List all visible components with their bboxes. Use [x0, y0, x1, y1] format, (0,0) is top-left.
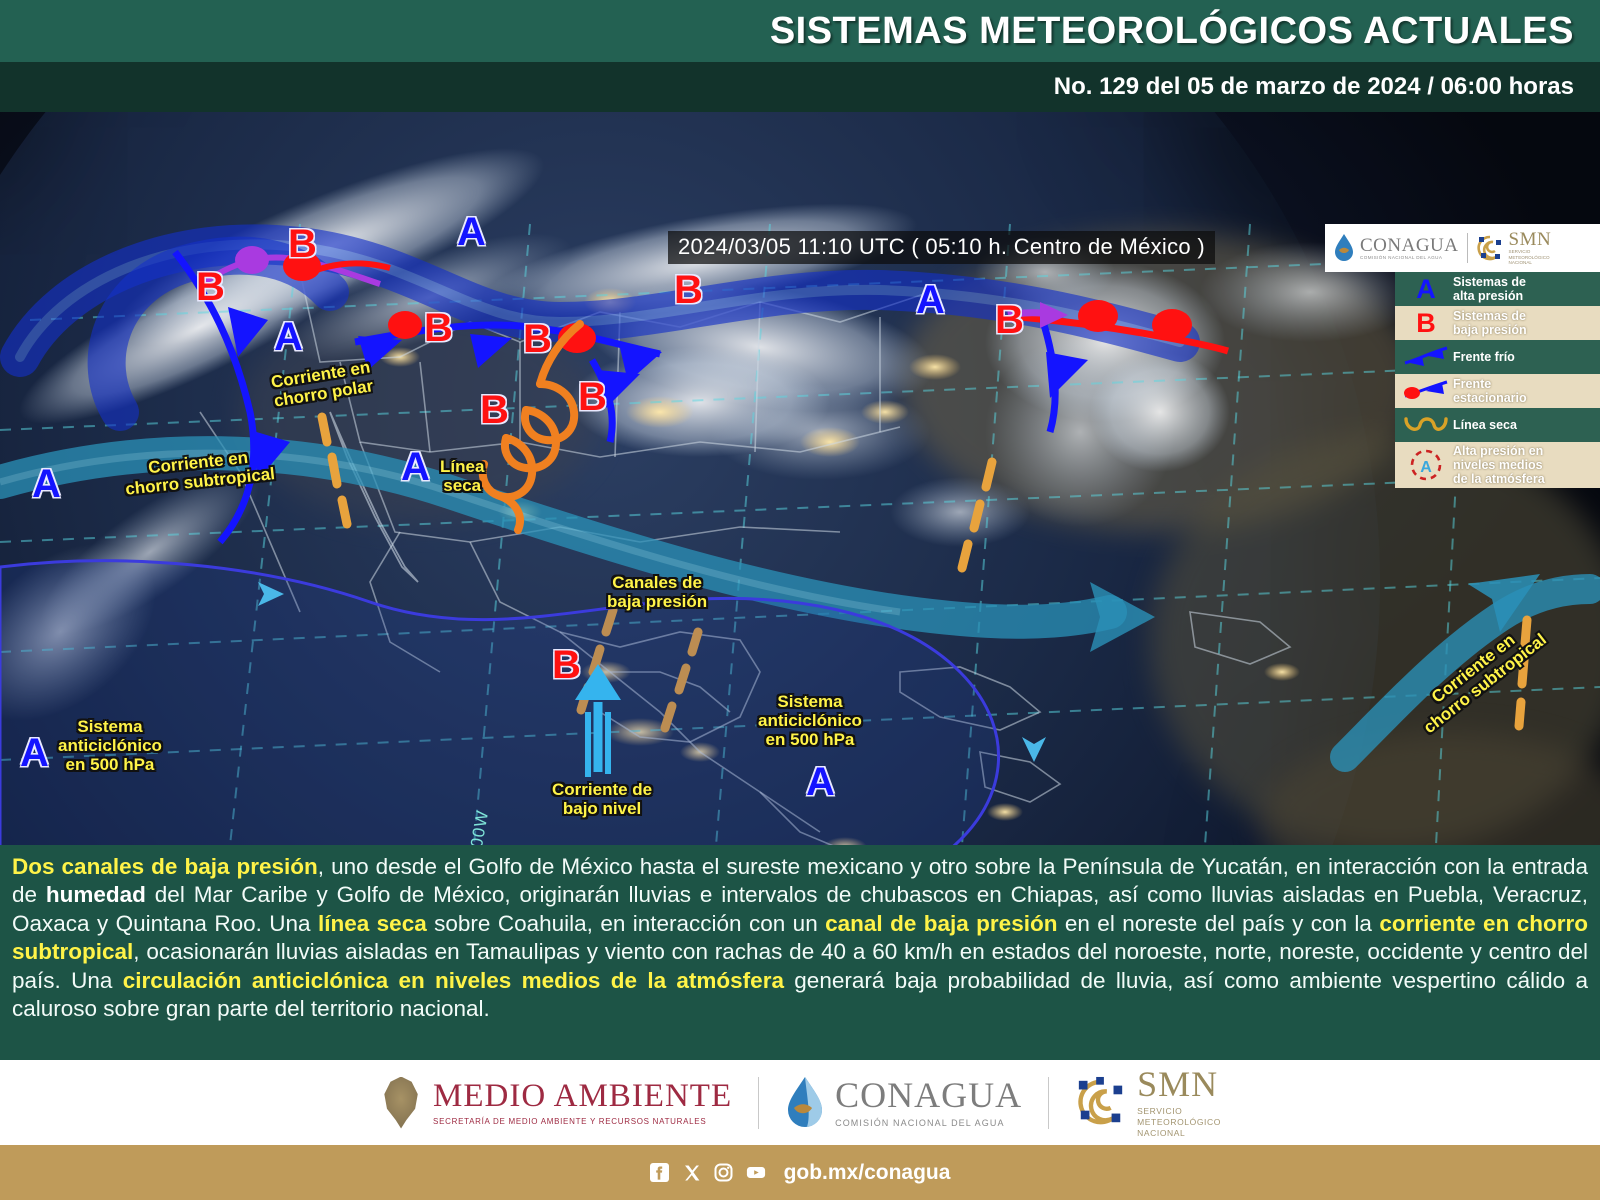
medio-ambiente-tagline: SECRETARÍA DE MEDIO AMBIENTE Y RECURSOS …: [433, 1117, 732, 1126]
legend-item-cold-front: Frente frío: [1395, 340, 1600, 374]
legend-item-dry-line: Línea seca: [1395, 408, 1600, 442]
smn-footer-logo: SMN SERVICIO METEOROLÓGICO NACIONAL: [1075, 1066, 1221, 1139]
smn-footer-tagline: SERVICIO METEOROLÓGICO NACIONAL: [1137, 1106, 1221, 1139]
cold-front-icon: [1399, 342, 1453, 372]
legend-label: Alta presión en niveles medios de la atm…: [1453, 444, 1545, 486]
satellite-weather-map: 2024/03/05 11:10 UTC ( 05:10 h. Centro d…: [0, 112, 1600, 845]
medio-ambiente-wordmark: MEDIO AMBIENTE: [433, 1080, 732, 1113]
conagua-logo: CONAGUA COMISIÓN NACIONAL DEL AGUA: [1333, 233, 1459, 263]
logo-divider: [1467, 233, 1468, 263]
summary-highlight: línea seca: [318, 911, 427, 936]
legend-symbol: A: [1416, 276, 1436, 303]
legend-label: Sistemas de alta presión: [1453, 275, 1526, 303]
pressure-marker-low-8: B: [995, 300, 1024, 340]
forecast-summary-panel: Dos canales de baja presión, uno desde e…: [0, 845, 1600, 1060]
legend-label: Línea seca: [1453, 418, 1517, 432]
pressure-marker-high-6: A: [20, 733, 49, 773]
smn-wordmark: SMN: [1509, 230, 1552, 249]
mid-level-high-icon: A: [1399, 450, 1453, 480]
header-bar: SISTEMAS METEOROLÓGICOS ACTUALES: [0, 0, 1600, 62]
satellite-timestamp: 2024/03/05 11:10 UTC ( 05:10 h. Centro d…: [668, 231, 1215, 264]
conagua-footer-logo: CONAGUA COMISIÓN NACIONAL DEL AGUA: [785, 1075, 1022, 1131]
bulletin-number-date: No. 129 del 05 de marzo de 2024 / 06:00 …: [1054, 73, 1600, 101]
water-drop-icon: [785, 1075, 825, 1131]
footer-divider: [1048, 1077, 1049, 1129]
pressure-marker-low-7: B: [480, 390, 509, 430]
conagua-smn-logo-strip: CONAGUA COMISIÓN NACIONAL DEL AGUA SMN S…: [1325, 224, 1600, 272]
conagua-wordmark: CONAGUA: [1360, 236, 1459, 255]
pressure-marker-high-1: A: [457, 212, 486, 252]
summary-bold: humedad: [46, 882, 146, 907]
x-twitter-icon[interactable]: [682, 1163, 702, 1183]
pressure-marker-low-3: B: [424, 308, 453, 348]
medio-ambiente-logo: MEDIO AMBIENTE SECRETARÍA DE MEDIO AMBIE…: [379, 1077, 732, 1129]
instagram-icon[interactable]: [714, 1163, 734, 1183]
legend-label: Frente frío: [1453, 350, 1515, 364]
pressure-marker-high-3: A: [401, 447, 430, 487]
conagua-footer-wordmark: CONAGUA: [835, 1077, 1022, 1113]
smn-spiral-icon: [1075, 1076, 1127, 1128]
forecast-summary-text: Dos canales de baja presión, uno desde e…: [12, 853, 1588, 1024]
pressure-marker-high-5: A: [32, 464, 61, 504]
legend-label: Sistemas de baja presión: [1453, 309, 1527, 337]
subtropical-jet-east-ribbon: [1345, 589, 1590, 757]
legend-item-stationary-front: Frente estacionario: [1395, 374, 1600, 408]
letter-A-icon: A: [1399, 274, 1453, 304]
legend-item-high-pressure: A Sistemas de alta presión: [1395, 272, 1600, 306]
legend-label: Frente estacionario: [1453, 377, 1527, 405]
summary-highlight: circulación anticiclónica en niveles med…: [123, 968, 784, 993]
footer-divider: [758, 1077, 759, 1129]
summary-highlight: Dos canales de baja presión: [12, 854, 318, 879]
water-drop-icon: [1333, 233, 1355, 263]
pressure-marker-low-1: B: [288, 224, 317, 264]
summary-highlight: canal de baja presión: [825, 911, 1057, 936]
pressure-marker-low-5: B: [674, 270, 703, 310]
weather-bulletin-page: SISTEMAS METEOROLÓGICOS ACTUALES No. 129…: [0, 0, 1600, 1200]
pressure-marker-low-2: B: [196, 267, 225, 307]
pressure-marker-low-4: B: [523, 319, 552, 359]
pressure-marker-low-6: B: [578, 377, 607, 417]
dry-line-icon: [1399, 410, 1453, 440]
svg-text:A: A: [1420, 459, 1432, 476]
legend-item-mid-level-high: A Alta presión en niveles medios de la a…: [1395, 442, 1600, 488]
pressure-marker-high-2: A: [274, 317, 303, 357]
smn-spiral-icon: [1476, 234, 1504, 262]
summary-text-run: sobre Coahuila, en interacción con un: [427, 911, 825, 936]
legend-symbol: B: [1416, 310, 1436, 337]
map-base-graphics: [0, 112, 1600, 845]
facebook-icon[interactable]: [650, 1163, 670, 1183]
smn-footer-wordmark: SMN: [1137, 1066, 1221, 1102]
letter-B-icon: B: [1399, 308, 1453, 338]
youtube-icon[interactable]: [746, 1163, 766, 1183]
legend-item-low-pressure: B Sistemas de baja presión: [1395, 306, 1600, 340]
smn-logo: SMN SERVICIO METEOROLÓGICO NACIONAL: [1476, 230, 1552, 266]
social-url-label[interactable]: gob.mx/conagua: [784, 1161, 951, 1185]
header-subbar: No. 129 del 05 de marzo de 2024 / 06:00 …: [0, 62, 1600, 112]
footer-logo-bar: MEDIO AMBIENTE SECRETARÍA DE MEDIO AMBIE…: [0, 1060, 1600, 1145]
pressure-marker-high-7: A: [806, 762, 835, 802]
smn-tagline: SERVICIO METEOROLÓGICO NACIONAL: [1509, 249, 1552, 266]
summary-text-run: en el noreste del país y con la: [1057, 911, 1379, 936]
stationary-front-icon: [1399, 376, 1453, 406]
page-title: SISTEMAS METEOROLÓGICOS ACTUALES: [770, 10, 1600, 53]
pressure-marker-low-9: B: [552, 645, 581, 685]
mexican-eagle-icon: [379, 1077, 423, 1129]
social-bar: gob.mx/conagua: [0, 1145, 1600, 1200]
conagua-footer-tagline: COMISIÓN NACIONAL DEL AGUA: [835, 1118, 1022, 1128]
pressure-marker-high-4: A: [916, 280, 945, 320]
map-legend: A Sistemas de alta presión B Sistemas de…: [1395, 272, 1600, 488]
